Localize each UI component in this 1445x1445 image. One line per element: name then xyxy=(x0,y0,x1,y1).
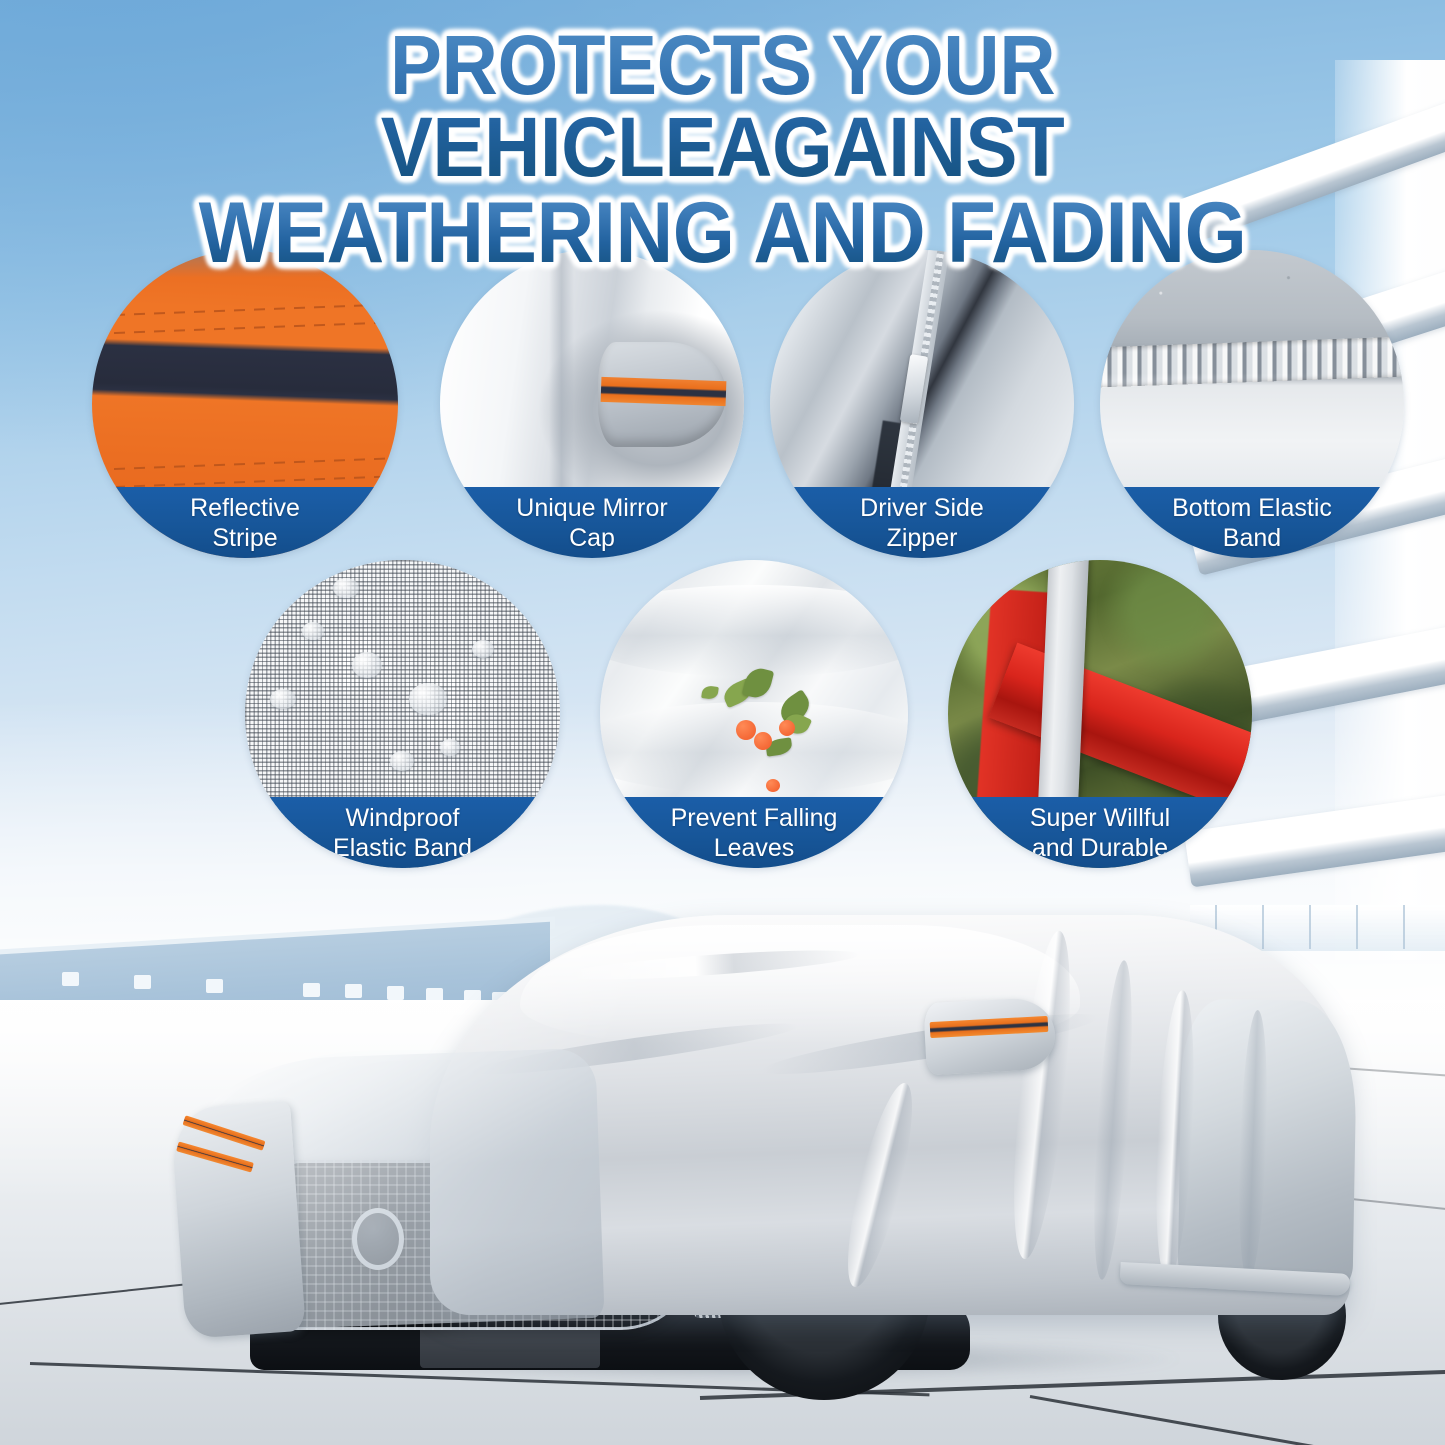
railing-post xyxy=(1309,905,1311,949)
parapet-opening xyxy=(134,975,151,989)
feature-label-band: WindproofElastic Band xyxy=(245,797,560,868)
feature-circle-driver-side-zipper[interactable]: Driver SideZipper xyxy=(770,250,1074,558)
water-droplet xyxy=(302,622,324,640)
feature-label-band: ReflectiveStripe xyxy=(92,487,398,558)
feature-label-band: Unique MirrorCap xyxy=(440,487,744,558)
feature-circle-bottom-elastic-band[interactable]: Bottom ElasticBand xyxy=(1100,250,1404,558)
feature-circle-super-willful-and-durable[interactable]: Super Willfuland Durable xyxy=(948,560,1252,868)
feature-label: Unique MirrorCap xyxy=(500,493,683,553)
railing-post xyxy=(1262,905,1264,949)
feature-label-band: Prevent FallingLeaves xyxy=(600,797,908,868)
cover-rear-drape xyxy=(1177,998,1357,1291)
berry xyxy=(736,720,756,740)
reflective-stripe-detail xyxy=(601,377,726,406)
feature-circle-windproof-elastic-band[interactable]: WindproofElastic Band xyxy=(245,560,560,868)
feature-label-band: Bottom ElasticBand xyxy=(1100,487,1404,558)
water-droplet xyxy=(440,739,460,756)
water-droplet xyxy=(390,751,414,771)
feature-label: Bottom ElasticBand xyxy=(1156,493,1348,553)
leaf xyxy=(701,685,719,700)
feature-label: WindproofElastic Band xyxy=(317,803,488,863)
feature-circle-prevent-falling-leaves[interactable]: Prevent FallingLeaves xyxy=(600,560,908,868)
feature-label: Prevent FallingLeaves xyxy=(655,803,854,863)
cover-fold xyxy=(600,702,908,794)
railing-post xyxy=(1403,905,1405,949)
railing-post xyxy=(1356,905,1358,949)
berry xyxy=(766,779,780,792)
parapet-opening xyxy=(387,986,404,1000)
parapet-opening xyxy=(62,972,79,986)
feature-label: Driver SideZipper xyxy=(844,493,1000,553)
berry xyxy=(779,720,795,736)
cover-fold xyxy=(600,585,908,677)
water-droplet xyxy=(409,683,447,715)
product-infographic: PROTECTS YOUR VEHICLEAGAINST WEATHERING … xyxy=(0,0,1445,1445)
page-title: PROTECTS YOUR VEHICLEAGAINST WEATHERING … xyxy=(0,24,1445,274)
water-droplet xyxy=(472,640,494,658)
parapet-opening xyxy=(345,984,362,998)
headline-line-2: WEATHERING AND FADING xyxy=(51,192,1395,274)
feature-label-band: Super Willfuland Durable xyxy=(948,797,1252,868)
headline-line-1: PROTECTS YOUR VEHICLEAGAINST xyxy=(51,24,1395,188)
feature-label: ReflectiveStripe xyxy=(174,493,316,553)
feature-label: Super Willfuland Durable xyxy=(1014,803,1186,863)
feature-label-band: Driver SideZipper xyxy=(770,487,1074,558)
feature-circle-unique-mirror-cap[interactable]: Unique MirrorCap xyxy=(440,250,744,558)
feature-circle-reflective-stripe[interactable]: ReflectiveStripe xyxy=(92,250,398,558)
parapet-opening xyxy=(303,983,320,997)
parapet-opening xyxy=(206,979,223,993)
